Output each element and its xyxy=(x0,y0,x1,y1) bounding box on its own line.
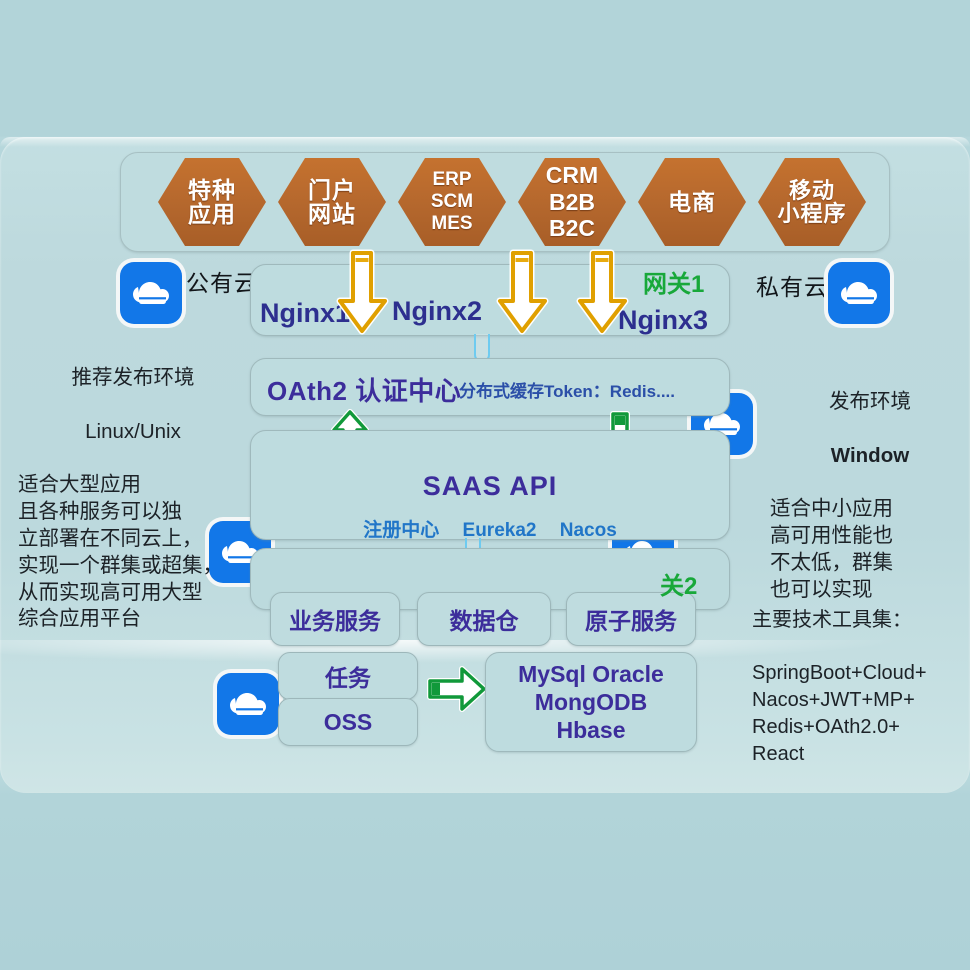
oss-box[interactable]: OSS xyxy=(278,698,418,746)
note-left-title: 推荐发布环境 xyxy=(18,365,248,392)
note-right-os: Window xyxy=(770,443,970,470)
hex-line: 电商 xyxy=(668,190,716,214)
hex-line: 移动 xyxy=(789,179,835,202)
note-left-body: 适合大型应用 且各种服务可以独 立部署在不同云上， 实现一个群集或超集， 从而实… xyxy=(18,473,223,630)
database-line: MySql Oracle xyxy=(518,660,664,688)
task-box[interactable]: 任务 xyxy=(278,652,418,700)
note-left-os: Linux/Unix xyxy=(18,419,248,446)
hex-line: B2B xyxy=(549,189,595,215)
registry-label: 注册中心 xyxy=(363,520,439,541)
distributed-token-cache-label: 分布式缓存Token：Redis.... xyxy=(459,377,675,402)
task-label: 任务 xyxy=(325,659,371,693)
cloud-icon xyxy=(835,273,883,313)
hex-line: SCM xyxy=(431,191,473,213)
oss-label: OSS xyxy=(324,709,373,736)
note-left-deployment: 推荐发布环境 Linux/Unix 适合大型应用 且各种服务可以独 立部署在不同… xyxy=(18,338,248,633)
saas-api-box: SAAS API 注册中心 Eureka2 Nacos xyxy=(250,430,730,540)
cloud-icon-public[interactable] xyxy=(120,262,182,324)
nginx2-label[interactable]: Nginx2 xyxy=(392,296,482,327)
service-box-business-service[interactable]: 业务服务 xyxy=(270,592,400,646)
private-cloud-label: 私有云 xyxy=(756,268,828,302)
hex-line: B2C xyxy=(549,215,595,241)
gateway2-label: 关2 xyxy=(660,566,697,601)
cloud-icon xyxy=(127,273,175,313)
auth-center-title: OAth2 认证中心 xyxy=(267,371,461,408)
hex-line: MES xyxy=(431,213,472,235)
gateway1-label: 网关1 xyxy=(643,264,704,299)
arrow-right-green-icon xyxy=(426,663,488,720)
hex-line: ERP xyxy=(432,169,471,191)
hex-line: 应用 xyxy=(188,202,236,226)
auth-center-box: OAth2 认证中心 分布式缓存Token：Redis.... xyxy=(250,358,730,416)
public-cloud-label: 公有云 xyxy=(186,264,258,298)
registry-row: 注册中心 Eureka2 Nacos xyxy=(251,515,729,542)
tech-stack-body: SpringBoot+Cloud+ Nacos+JWT+MP+ Redis+OA… xyxy=(752,662,927,764)
tech-stack-title: 主要技术工具集： xyxy=(752,607,970,634)
hex-line: 网站 xyxy=(308,202,356,226)
arrow-down-gold-icon-2 xyxy=(491,249,553,342)
database-line: Hbase xyxy=(556,716,625,744)
database-line: MongODB xyxy=(535,688,647,716)
note-right-deployment: 发布环境 Window 适合中小应用 高可用性能也 不太低，群集 也可以实现 xyxy=(770,362,970,604)
arrow-down-gold-icon-3 xyxy=(571,249,633,342)
cloud-icon xyxy=(224,684,272,724)
cloud-icon-private[interactable] xyxy=(828,262,890,324)
diagram-canvas: 特种 应用 门户 网站 ERP SCM MES CRM B2B B2C 电商 移… xyxy=(0,0,970,970)
service-label: 数据仓 xyxy=(450,602,519,636)
note-right-title: 发布环境 xyxy=(770,389,970,416)
database-box[interactable]: MySql Oracle MongODB Hbase xyxy=(485,652,697,752)
service-label: 原子服务 xyxy=(585,602,677,636)
cloud-icon-bottom[interactable] xyxy=(217,673,279,735)
saas-api-title: SAAS API xyxy=(251,471,729,502)
hex-line: 门户 xyxy=(308,178,356,202)
hex-line: 特种 xyxy=(188,178,236,202)
service-label: 业务服务 xyxy=(289,602,381,636)
arrow-down-gold-icon-1 xyxy=(331,249,393,342)
hex-line: CRM xyxy=(546,162,598,188)
note-tech-stack: 主要技术工具集： SpringBoot+Cloud+ Nacos+JWT+MP+… xyxy=(752,580,970,768)
service-box-data-warehouse[interactable]: 数据仓 xyxy=(417,592,551,646)
hex-line: 小程序 xyxy=(777,202,846,225)
registry-item-nacos: Nacos xyxy=(560,520,617,541)
